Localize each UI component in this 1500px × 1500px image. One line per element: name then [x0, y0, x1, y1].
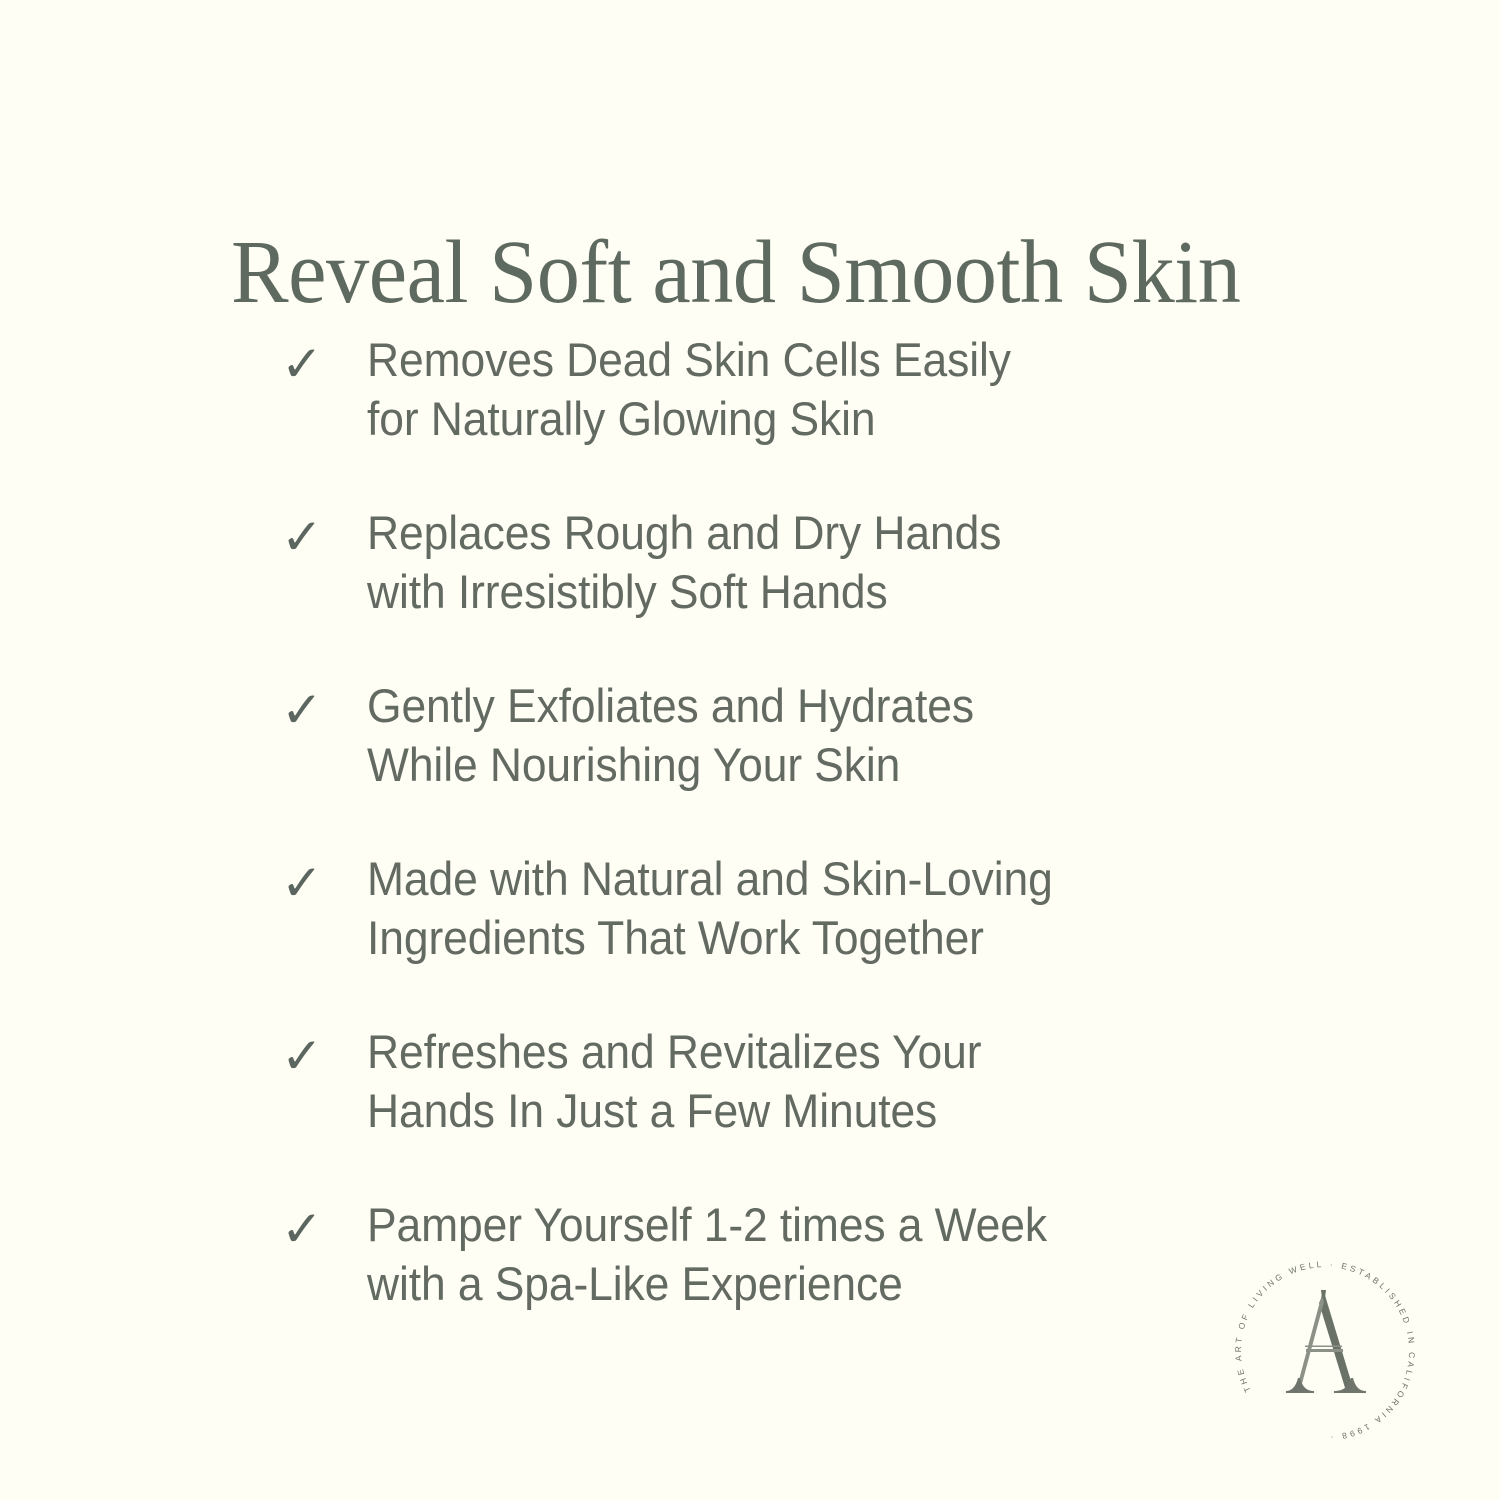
list-item-text: Removes Dead Skin Cells Easily for Natur… [367, 330, 1231, 448]
list-item-line-1: Gently Exfoliates and Hydrates [367, 676, 1231, 735]
list-item: ✓ Replaces Rough and Dry Hands with Irre… [281, 503, 1281, 676]
list-item-line-2: with Irresistibly Soft Hands [367, 562, 1231, 621]
page-title: Reveal Soft and Smooth Skin [231, 228, 1287, 318]
list-item: ✓ Refreshes and Revitalizes Your Hands I… [281, 1022, 1281, 1195]
benefits-card: Reveal Soft and Smooth Skin ✓ Removes De… [0, 0, 1500, 1500]
list-item-text: Made with Natural and Skin-Loving Ingred… [367, 849, 1231, 967]
list-item: ✓ Removes Dead Skin Cells Easily for Nat… [281, 330, 1281, 503]
list-item-line-1: Removes Dead Skin Cells Easily [367, 330, 1231, 389]
list-item-line-2: for Naturally Glowing Skin [367, 389, 1231, 448]
list-item-line-1: Replaces Rough and Dry Hands [367, 503, 1231, 562]
checkmark-icon: ✓ [281, 849, 343, 913]
checkmark-icon: ✓ [281, 676, 343, 740]
list-item-text: Replaces Rough and Dry Hands with Irresi… [367, 503, 1231, 621]
list-item: ✓ Made with Natural and Skin-Loving Ingr… [281, 849, 1281, 1022]
checkmark-icon: ✓ [281, 1022, 343, 1086]
list-item-line-2: While Nourishing Your Skin [367, 735, 1231, 794]
list-item-line-2: Hands In Just a Few Minutes [367, 1081, 1231, 1140]
list-item: ✓ Pamper Yourself 1-2 times a Week with … [281, 1195, 1281, 1368]
list-item-line-1: Pamper Yourself 1-2 times a Week [367, 1195, 1231, 1254]
list-item-text: Refreshes and Revitalizes Your Hands In … [367, 1022, 1231, 1140]
checkmark-icon: ✓ [281, 330, 343, 394]
checkmark-icon: ✓ [281, 503, 343, 567]
list-item-line-2: Ingredients That Work Together [367, 908, 1231, 967]
list-item-line-1: Refreshes and Revitalizes Your [367, 1022, 1231, 1081]
list-item-line-1: Made with Natural and Skin-Loving [367, 849, 1231, 908]
list-item-text: Pamper Yourself 1-2 times a Week with a … [367, 1195, 1231, 1313]
badge-monogram-icon [1286, 1290, 1366, 1393]
list-item-text: Gently Exfoliates and Hydrates While Nou… [367, 676, 1231, 794]
benefits-list: ✓ Removes Dead Skin Cells Easily for Nat… [281, 330, 1281, 1368]
brand-badge-logo: THE ART OF LIVING WELL · ESTABLISHED IN … [1222, 1248, 1428, 1454]
checkmark-icon: ✓ [281, 1195, 343, 1259]
list-item-line-2: with a Spa-Like Experience [367, 1254, 1231, 1313]
list-item: ✓ Gently Exfoliates and Hydrates While N… [281, 676, 1281, 849]
